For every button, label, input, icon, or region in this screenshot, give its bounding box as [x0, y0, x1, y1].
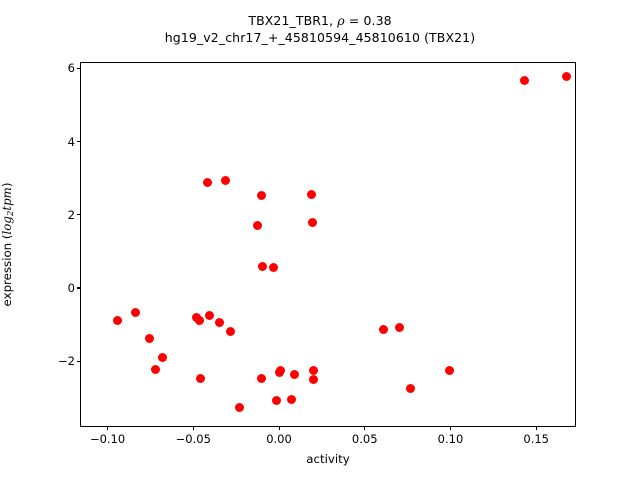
- x-tick-mark: [279, 426, 280, 430]
- data-point: [395, 323, 404, 332]
- data-point: [205, 311, 214, 320]
- data-point: [272, 396, 281, 405]
- data-point: [113, 316, 122, 325]
- data-point: [226, 327, 235, 336]
- y-axis-label-suffix: ): [0, 183, 14, 188]
- data-point: [257, 191, 266, 200]
- data-point: [307, 190, 316, 199]
- data-point: [195, 316, 204, 325]
- y-axis-label-prefix: expression (: [0, 234, 14, 306]
- data-point: [308, 218, 317, 227]
- x-tick-mark: [450, 426, 451, 430]
- x-tick-label: −0.05: [176, 432, 211, 446]
- y-axis-label-log: log: [0, 216, 14, 234]
- data-point: [158, 353, 167, 362]
- y-axis-label-subscript: 2: [6, 211, 16, 216]
- x-tick-mark: [536, 426, 537, 430]
- y-tick-mark: [77, 287, 81, 288]
- data-point: [235, 403, 244, 412]
- data-point: [203, 178, 212, 187]
- data-point: [445, 366, 454, 375]
- y-tick-label: 6: [68, 61, 75, 75]
- data-point: [131, 308, 140, 317]
- y-axis-label-tpm: tpm: [0, 187, 14, 210]
- data-point: [406, 384, 415, 393]
- y-tick-mark: [77, 141, 81, 142]
- x-tick-label: 0.05: [352, 432, 378, 446]
- x-tick-label: 0.00: [266, 432, 292, 446]
- y-tick-label: 4: [68, 135, 75, 149]
- x-tick-mark: [193, 426, 194, 430]
- y-tick-mark: [77, 68, 81, 69]
- y-tick-label: 2: [68, 208, 75, 222]
- data-point: [221, 176, 230, 185]
- scatter-plot-figure: TBX21_TBR1, ρ = 0.38 hg19_v2_chr17_+_458…: [0, 0, 640, 480]
- data-point: [215, 318, 224, 327]
- data-point: [253, 221, 262, 230]
- data-point: [309, 366, 318, 375]
- data-point: [276, 366, 285, 375]
- y-tick-mark: [77, 361, 81, 362]
- x-tick-label: 0.10: [438, 432, 464, 446]
- plot-title-line-2: hg19_v2_chr17_+_45810594_45810610 (TBX21…: [0, 29, 640, 46]
- data-point: [379, 325, 388, 334]
- data-point: [145, 334, 154, 343]
- scatter-points-layer: [81, 63, 575, 426]
- data-point: [520, 76, 529, 85]
- plot-title-line-1: TBX21_TBR1, ρ = 0.38: [0, 12, 640, 29]
- data-point: [151, 365, 160, 374]
- data-point: [269, 263, 278, 272]
- data-point: [258, 262, 267, 271]
- x-tick-label: 0.15: [523, 432, 549, 446]
- data-point: [287, 395, 296, 404]
- data-point: [562, 72, 571, 81]
- plot-axes: −0.10−0.050.000.050.100.15 −20246: [80, 62, 576, 427]
- plot-title: TBX21_TBR1, ρ = 0.38 hg19_v2_chr17_+_458…: [0, 12, 640, 46]
- plot-title-prefix: TBX21_TBR1,: [248, 13, 337, 28]
- rho-value: = 0.38: [345, 13, 392, 28]
- x-axis-label: activity: [80, 452, 576, 466]
- y-tick-label: 0: [68, 281, 75, 295]
- data-point: [196, 374, 205, 383]
- data-point: [309, 375, 318, 384]
- y-tick-label: −2: [58, 354, 75, 368]
- y-tick-mark: [77, 214, 81, 215]
- x-tick-mark: [364, 426, 365, 430]
- y-axis-label: expression (log2tpm): [0, 62, 22, 427]
- x-tick-label: −0.10: [90, 432, 125, 446]
- rho-symbol: ρ: [337, 13, 344, 28]
- data-point: [290, 370, 299, 379]
- data-point: [257, 374, 266, 383]
- x-tick-mark: [107, 426, 108, 430]
